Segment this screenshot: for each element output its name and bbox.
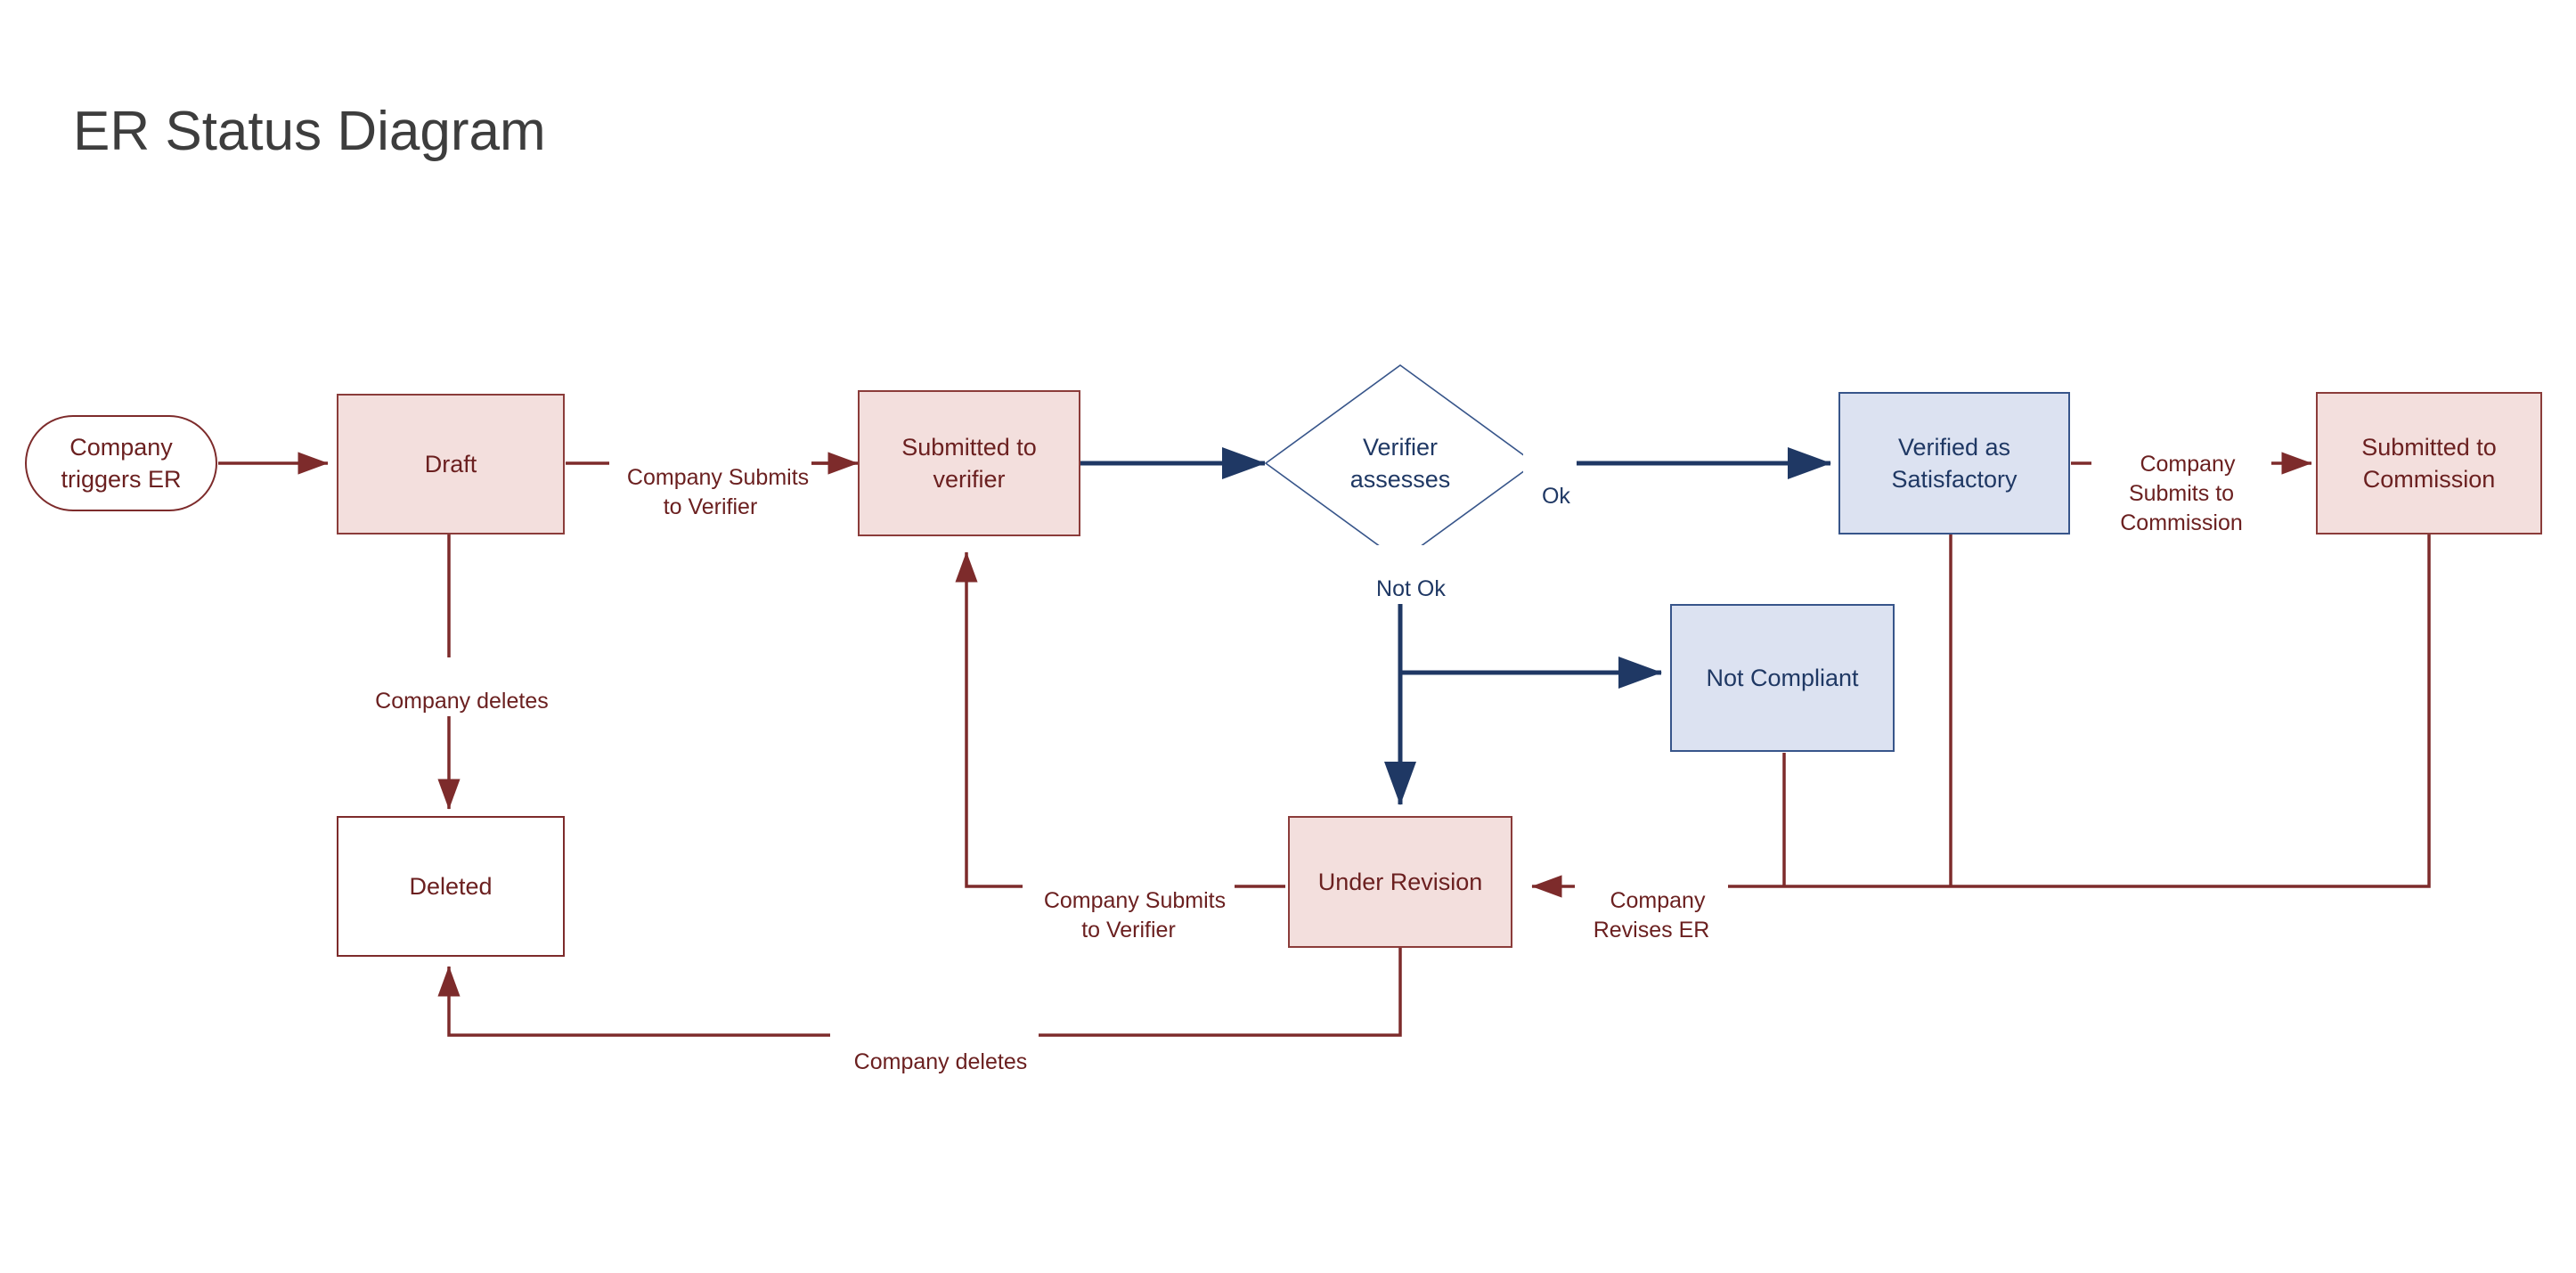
node-draft[interactable]: Draft <box>337 394 565 534</box>
edge-label-revision-to-verifier: Company Submits to Verifier <box>1023 857 1235 945</box>
edge-label-decision-ok-text: Ok <box>1542 484 1570 509</box>
node-draft-label: Draft <box>425 448 477 480</box>
edge-label-verified-to-commission: Company Submits to Commission <box>2091 420 2271 538</box>
node-company-triggers-er-label: Company triggers ER <box>61 431 181 496</box>
node-deleted[interactable]: Deleted <box>337 816 565 957</box>
node-submitted-to-verifier-label: Submitted to verifier <box>901 431 1037 496</box>
node-submitted-to-commission[interactable]: Submitted to Commission <box>2316 392 2542 534</box>
node-not-compliant[interactable]: Not Compliant <box>1670 604 1895 752</box>
edge-label-draft-to-submitted-text: Company Submits to Verifier <box>627 465 809 519</box>
diamond-verifier-assesses <box>1266 365 1535 561</box>
node-company-triggers-er[interactable]: Company triggers ER <box>25 415 217 511</box>
edge-label-draft-to-deleted: Company deletes <box>355 657 557 716</box>
edge-label-decision-not-ok-text: Not Ok <box>1376 576 1446 601</box>
edge-label-revision-to-verifier-text: Company Submits to Verifier <box>1044 888 1226 943</box>
edge-label-revision-to-deleted: Company deletes <box>830 1018 1039 1077</box>
node-not-compliant-label: Not Compliant <box>1706 662 1858 694</box>
node-deleted-label: Deleted <box>409 870 492 902</box>
edge-label-decision-not-ok: Not Ok <box>1347 545 1463 604</box>
edge-label-draft-to-deleted-text: Company deletes <box>375 689 549 714</box>
edge-revision-to-verifier <box>966 552 1285 886</box>
node-under-revision[interactable]: Under Revision <box>1288 816 1512 948</box>
node-submitted-to-verifier[interactable]: Submitted to verifier <box>858 390 1080 536</box>
node-verified-as-satisfactory[interactable]: Verified as Satisfactory <box>1838 392 2070 534</box>
edge-label-decision-ok: Ok <box>1523 453 1577 511</box>
node-submitted-to-commission-label: Submitted to Commission <box>2361 431 2497 496</box>
diagram-canvas <box>0 0 2576 1273</box>
node-under-revision-label: Under Revision <box>1318 866 1483 898</box>
edge-label-revises-er: Company Revises ER <box>1575 857 1728 945</box>
edge-label-revision-to-deleted-text: Company deletes <box>854 1049 1028 1074</box>
edge-label-draft-to-submitted: Company Submits to Verifier <box>609 434 811 522</box>
node-verified-as-satisfactory-label: Verified as Satisfactory <box>1891 431 2017 496</box>
edge-label-verified-to-commission-text: Company Submits to Commission <box>2120 452 2243 535</box>
edge-label-revises-er-text: Company Revises ER <box>1594 888 1710 943</box>
